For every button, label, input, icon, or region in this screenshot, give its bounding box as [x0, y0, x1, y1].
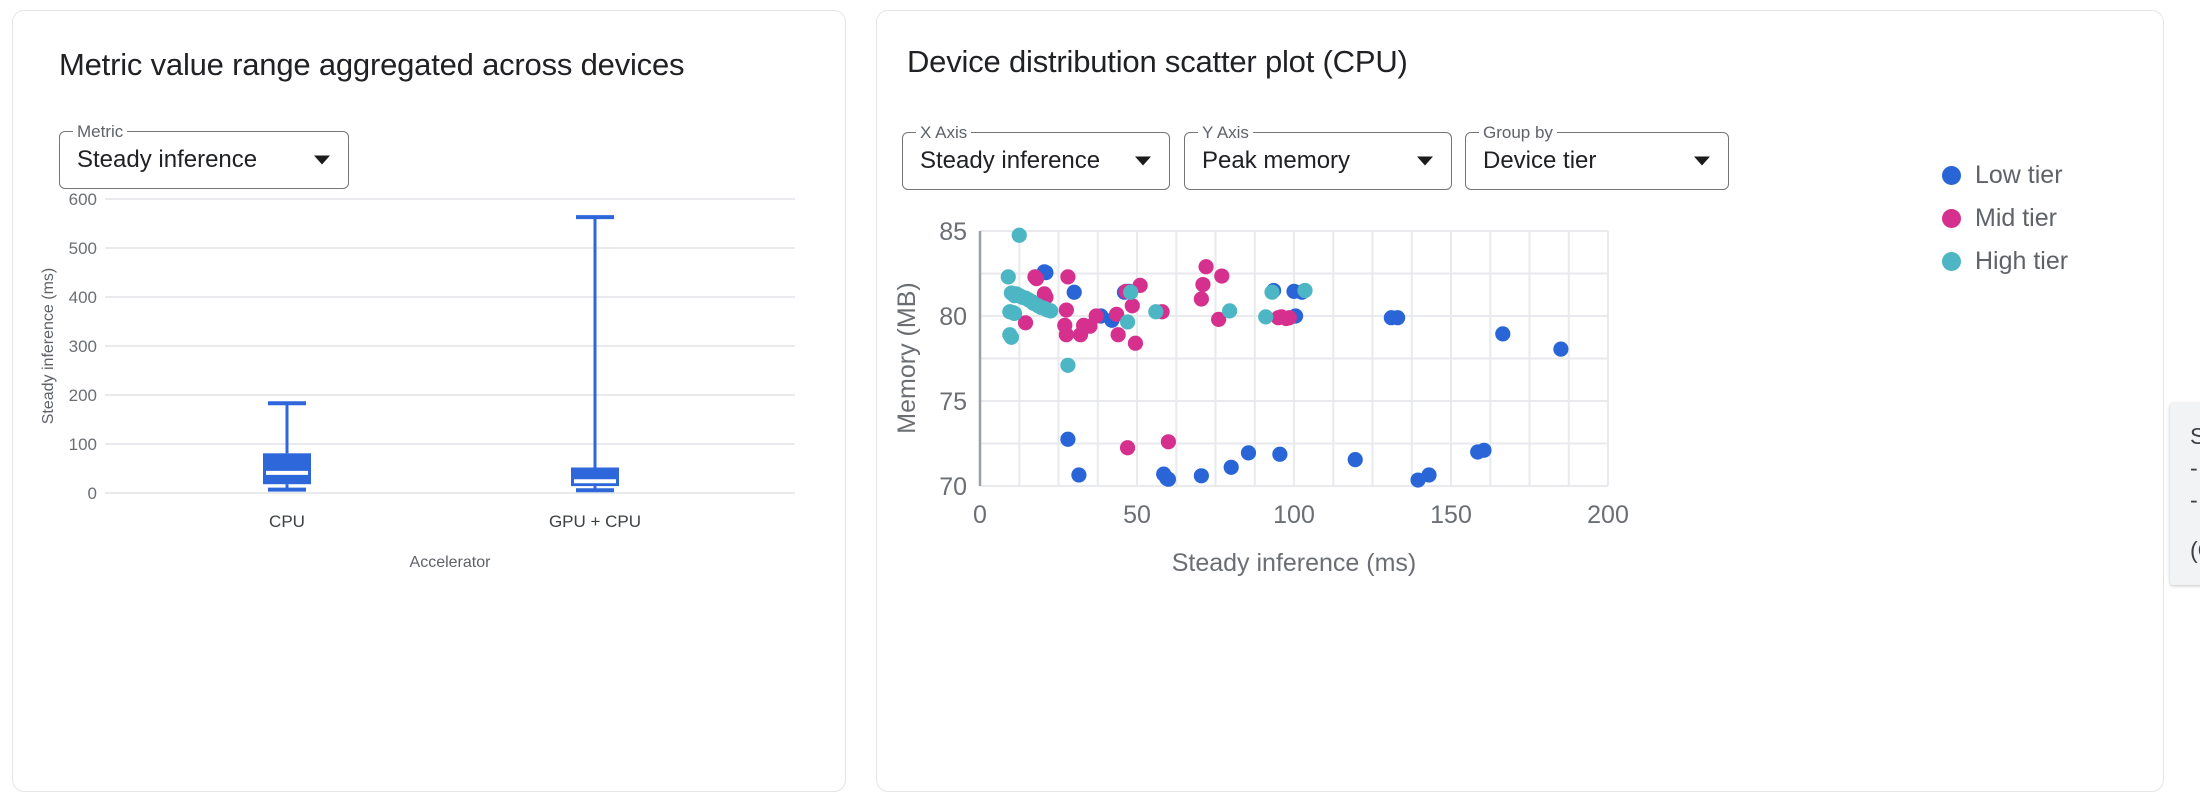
scatter-point[interactable] [1120, 314, 1135, 329]
scatter-point[interactable] [1224, 460, 1239, 475]
scatter-point[interactable] [1060, 358, 1075, 373]
scatter-point[interactable] [1043, 303, 1058, 318]
scatter-point[interactable] [1029, 271, 1044, 286]
svg-text:0: 0 [88, 484, 97, 503]
box-plot-title: Metric value range aggregated across dev… [59, 47, 684, 83]
y-axis-select-label: Y Axis [1198, 124, 1253, 142]
scatter-tooltip: Samsung Galaxy A51 - Steady inference (m… [2170, 403, 2200, 585]
scatter-point[interactable] [1161, 434, 1176, 449]
box-plot-y-ticks: 600 500 400 300 200 100 0 [69, 190, 97, 503]
svg-text:70: 70 [939, 473, 967, 501]
scatter-point[interactable] [1421, 467, 1436, 482]
chevron-down-icon[interactable] [1417, 157, 1433, 166]
scatter-point[interactable] [1059, 302, 1074, 317]
scatter-point[interactable] [1258, 309, 1273, 324]
svg-text:200: 200 [69, 386, 97, 405]
svg-text:100: 100 [69, 435, 97, 454]
scatter-point[interactable] [1001, 269, 1016, 284]
group-by-select-label: Group by [1479, 124, 1557, 142]
tooltip-hint: (Click dot to view details) [2190, 534, 2200, 566]
legend-label-high-tier: High tier [1975, 247, 2068, 276]
scatter-point[interactable] [1194, 468, 1209, 483]
scatter-point[interactable] [1128, 336, 1143, 351]
svg-text:500: 500 [69, 239, 97, 258]
scatter-point[interactable] [1111, 327, 1126, 342]
scatter-gridlines [980, 231, 1608, 486]
scatter-point[interactable] [1476, 443, 1491, 458]
scatter-point[interactable] [1120, 440, 1135, 455]
svg-text:150: 150 [1430, 501, 1472, 529]
svg-text:50: 50 [1123, 501, 1151, 529]
scatter-legend: Low tier Mid tier High tier [1942, 161, 2068, 276]
scatter-point[interactable] [1060, 269, 1075, 284]
scatter-point[interactable] [1059, 327, 1074, 342]
scatter-point[interactable] [1297, 283, 1312, 298]
scatter-point[interactable] [1123, 285, 1138, 300]
tooltip-spacer [2190, 516, 2200, 534]
svg-text:75: 75 [939, 388, 967, 416]
scatter-point[interactable] [1194, 291, 1209, 306]
svg-text:300: 300 [69, 337, 97, 356]
scatter-point[interactable] [1067, 285, 1082, 300]
svg-text:85: 85 [939, 218, 967, 246]
metric-select-value: Steady inference [77, 146, 257, 174]
tooltip-memory-value: - Memory (MB):71.87 [2190, 484, 2200, 516]
svg-text:0: 0 [973, 501, 987, 529]
scatter-point[interactable] [1195, 277, 1210, 292]
svg-text:GPU + CPU: GPU + CPU [549, 512, 641, 531]
box-plot-series-gpu-cpu[interactable] [571, 217, 619, 490]
scatter-point[interactable] [1241, 445, 1256, 460]
scatter-point[interactable] [1148, 304, 1163, 319]
scatter-point[interactable] [1272, 447, 1287, 462]
scatter-point[interactable] [1553, 342, 1568, 357]
scatter-point[interactable] [1089, 308, 1104, 323]
box-plot-svg: 600 500 400 300 200 100 0 [23, 179, 837, 779]
tooltip-device-name: Samsung Galaxy A51 [2190, 420, 2200, 452]
scatter-y-ticks: 85 80 75 70 [939, 218, 967, 501]
scatter-point[interactable] [1495, 326, 1510, 341]
scatter-point[interactable] [1222, 303, 1237, 318]
legend-label-mid-tier: Mid tier [1975, 204, 2057, 233]
scatter-x-axis-title: Steady inference (ms) [1172, 549, 1417, 577]
scatter-point[interactable] [1012, 228, 1027, 243]
x-axis-select-label: X Axis [916, 124, 971, 142]
legend-item-mid-tier[interactable]: Mid tier [1942, 204, 2068, 233]
svg-text:CPU: CPU [269, 512, 305, 531]
scatter-point[interactable] [1264, 285, 1279, 300]
scatter-point[interactable] [1274, 309, 1289, 324]
dashboard-root: Metric value range aggregated across dev… [0, 0, 2200, 808]
svg-text:600: 600 [69, 190, 97, 209]
scatter-point[interactable] [1004, 330, 1019, 345]
chevron-down-icon[interactable] [1135, 157, 1151, 166]
svg-text:200: 200 [1587, 501, 1629, 529]
svg-text:100: 100 [1273, 501, 1315, 529]
scatter-point[interactable] [1125, 298, 1140, 313]
chevron-down-icon[interactable] [314, 156, 330, 165]
chevron-down-icon[interactable] [1694, 157, 1710, 166]
scatter-point[interactable] [1073, 327, 1088, 342]
legend-item-high-tier[interactable]: High tier [1942, 247, 2068, 276]
legend-swatch-high-tier [1942, 252, 1961, 271]
svg-text:80: 80 [939, 303, 967, 331]
scatter-plot-card: Device distribution scatter plot (CPU) X… [876, 10, 2164, 792]
scatter-y-axis-title: Memory (MB) [893, 282, 921, 433]
svg-text:400: 400 [69, 288, 97, 307]
box-plot-series-cpu[interactable] [263, 403, 311, 489]
box-plot-card: Metric value range aggregated across dev… [12, 10, 846, 792]
legend-swatch-low-tier [1942, 166, 1961, 185]
box-plot-y-axis-title: Steady inference (ms) [40, 268, 57, 425]
legend-item-low-tier[interactable]: Low tier [1942, 161, 2068, 190]
scatter-point[interactable] [1198, 259, 1213, 274]
scatter-x-ticks: 0 50 100 150 200 [973, 501, 1629, 529]
scatter-plot-title: Device distribution scatter plot (CPU) [907, 44, 1408, 80]
scatter-point[interactable] [1214, 268, 1229, 283]
scatter-point[interactable] [1071, 467, 1086, 482]
metric-select-label: Metric [73, 123, 127, 141]
tooltip-metric-value: - Steady inference (ms):95.58 [2190, 452, 2200, 484]
scatter-point[interactable] [1060, 432, 1075, 447]
legend-label-low-tier: Low tier [1975, 161, 2063, 190]
scatter-point[interactable] [1390, 310, 1405, 325]
scatter-point[interactable] [1007, 306, 1022, 321]
box-plot-gridlines [105, 199, 795, 493]
scatter-plot-svg: 85 80 75 70 0 50 100 150 200 Steady infe… [887, 171, 1937, 591]
scatter-point[interactable] [1161, 472, 1176, 487]
legend-swatch-mid-tier [1942, 209, 1961, 228]
box-plot-x-axis-title: Accelerator [410, 554, 492, 571]
scatter-point[interactable] [1348, 452, 1363, 467]
box-plot-category-labels: CPU GPU + CPU [269, 512, 641, 531]
